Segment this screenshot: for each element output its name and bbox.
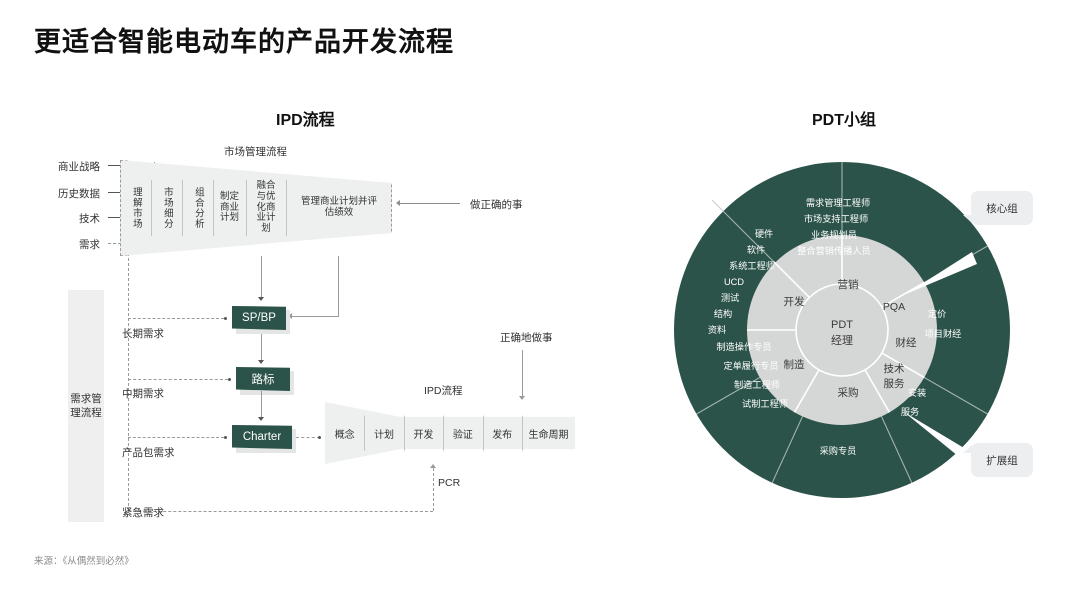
funnel-stage[interactable]: 制定商业计划	[213, 160, 246, 256]
annotation-do-things-right: 正确地做事	[500, 330, 553, 345]
outer-label-development-7[interactable]: 资料	[708, 324, 726, 335]
annotation-line-top	[400, 203, 460, 204]
node-charter-label: Charter	[243, 431, 281, 443]
roadmap-to-charter-arrow	[258, 417, 264, 421]
pcr-label: PCR	[438, 477, 460, 489]
funnel-stage[interactable]: 组合分析	[182, 160, 213, 256]
market-process-label: 市场管理流程	[224, 144, 287, 159]
node-charter[interactable]: Charter	[232, 425, 292, 449]
demand-management-label: 需求管理流程	[68, 392, 104, 420]
section-heading-pdt: PDT小组	[812, 106, 876, 130]
funnel-to-spbp-arrow	[258, 297, 264, 301]
ipd-stage-list: 概念 计划 开发 验证 发布 生命周期	[325, 402, 575, 464]
node-spbp-label: SP/BP	[242, 312, 276, 324]
inner-label-manufacturing[interactable]: 制造	[784, 358, 805, 371]
product-pkg-dot	[224, 436, 227, 439]
page-title: 更适合智能电动车的产品开发流程	[34, 20, 454, 59]
pcr-arrow	[430, 464, 436, 468]
demand-riser-dashed	[128, 243, 129, 511]
section-heading-ipd: IPD流程	[276, 106, 335, 130]
roadmap-to-charter-line	[261, 391, 262, 419]
mid-term-dot	[228, 378, 231, 381]
callout-core-tail	[963, 215, 972, 223]
spbp-to-roadmap-arrow	[258, 360, 264, 364]
mid-term-dashed	[128, 379, 228, 380]
annotation-line-bottom	[522, 350, 523, 398]
outer-label-manufacturing-2[interactable]: 定单履行专员	[723, 360, 778, 371]
funnel-stage-label: 管理商业计划并评估绩效	[300, 197, 378, 218]
funnel-stage-label: 融合与优化商业计划	[254, 181, 279, 234]
spbp-to-roadmap-line	[261, 334, 262, 362]
node-spbp[interactable]: SP/BP	[232, 306, 286, 330]
outer-label-finance-2[interactable]: 项目财经	[925, 328, 962, 339]
outer-label-marketing-1[interactable]: 需求管理工程师	[806, 197, 870, 208]
outer-label-manufacturing-3[interactable]: 制造工程师	[734, 379, 780, 390]
ipd-stage-label: 计划	[374, 426, 394, 441]
callout-extended-tail	[963, 445, 972, 453]
ipd-stage-label: 开发	[413, 426, 433, 441]
outer-label-manufacturing-4[interactable]: 试制工程师	[742, 398, 788, 409]
ipd-stage[interactable]: 概念	[325, 402, 364, 464]
inner-label-procurement[interactable]: 采购	[838, 386, 859, 399]
demand-row-label-pkg: 产品包需求	[122, 445, 175, 460]
input-label-strategy: 商业战略	[30, 159, 100, 174]
ipd-stage[interactable]: 验证	[443, 402, 482, 464]
demand-management-column: 需求管理流程	[68, 290, 104, 522]
ipd-stage[interactable]: 开发	[404, 402, 443, 464]
ipd-stage-label: 发布	[492, 426, 512, 441]
outer-label-development-6[interactable]: 结构	[714, 308, 732, 319]
callout-core-label: 核心组	[986, 201, 1018, 216]
inner-label-techservice-line1[interactable]: 技术	[884, 362, 905, 375]
annotation-arrow-top	[396, 200, 400, 206]
funnel-stage[interactable]: 理解市场	[120, 160, 151, 256]
outer-label-marketing-3[interactable]: 业务规划员	[811, 229, 857, 240]
outer-label-procurement-1[interactable]: 采购专员	[820, 445, 857, 456]
outer-label-development-4[interactable]: UCD	[724, 277, 744, 287]
outer-label-development-5[interactable]: 测试	[721, 292, 739, 303]
long-term-dashed	[128, 318, 224, 319]
ipd-stage[interactable]: 计划	[364, 402, 403, 464]
outer-label-marketing-4[interactable]: 整合营销传播人员	[797, 245, 871, 256]
ipd-funnel-label: IPD流程	[424, 383, 463, 398]
inner-label-marketing[interactable]: 营销	[838, 278, 859, 291]
outer-label-development-3[interactable]: 系统工程师	[729, 260, 775, 271]
callout-extended-group[interactable]: 扩展组	[971, 443, 1033, 477]
callout-core-group[interactable]: 核心组	[971, 191, 1033, 225]
funnel-stage-list: 理解市场 市场细分 组合分析 制定商业计划 融合与优化商业计划 管理商业计划并评…	[120, 160, 392, 256]
outer-label-techservice-2[interactable]: 服务	[901, 406, 919, 417]
funnel-stage[interactable]: 融合与优化商业计划	[246, 160, 286, 256]
outer-label-manufacturing-1[interactable]: 制造操作专员	[716, 341, 771, 352]
input-label-history: 历史数据	[30, 186, 100, 201]
pdt-wheel: PDT 经理 营销 PQA 财经 技术 服务 采购 制造 开发 需求管理工程师 …	[672, 160, 1012, 500]
charter-to-ipd-dot	[318, 436, 321, 439]
outer-label-techservice-1[interactable]: 安装	[908, 387, 926, 398]
funnel-stage-label: 制定商业计划	[220, 192, 240, 224]
feedback-vline	[338, 256, 339, 316]
outer-label-development-2[interactable]: 软件	[747, 244, 765, 255]
pcr-dashed-line	[433, 468, 434, 511]
source-note: 来源：《从偶然到必然》	[34, 553, 134, 567]
node-roadmap-label: 路标	[252, 371, 275, 387]
node-roadmap[interactable]: 路标	[236, 367, 290, 391]
demand-row-label-urgent: 紧急需求	[122, 505, 164, 520]
annotation-arrow-bottom	[519, 396, 525, 400]
funnel-stage[interactable]: 市场细分	[151, 160, 182, 256]
ipd-stage[interactable]: 生命周期	[522, 402, 575, 464]
callout-extended-label: 扩展组	[986, 453, 1018, 468]
funnel-stage-label: 组合分析	[192, 187, 203, 229]
ipd-stage-label: 生命周期	[528, 426, 568, 441]
outer-label-finance-1[interactable]: 定价	[928, 308, 946, 319]
ipd-stage[interactable]: 发布	[483, 402, 522, 464]
annotation-do-right-things: 做正确的事	[470, 197, 523, 212]
inner-label-development[interactable]: 开发	[784, 295, 805, 308]
funnel-stage[interactable]: 管理商业计划并评估绩效	[286, 160, 392, 256]
ipd-stage-label: 验证	[453, 426, 473, 441]
funnel-stage-label: 理解市场	[130, 187, 141, 229]
demand-row-label-mid: 中期需求	[122, 386, 164, 401]
funnel-stage-label: 市场细分	[161, 187, 172, 229]
market-management-funnel: 理解市场 市场细分 组合分析 制定商业计划 融合与优化商业计划 管理商业计划并评…	[120, 160, 392, 256]
long-term-dot	[224, 317, 227, 320]
slide-canvas: 更适合智能电动车的产品开发流程 IPD流程 PDT小组 市场管理流程 商业战略 …	[0, 0, 1080, 603]
inner-label-finance[interactable]: 财经	[896, 336, 917, 349]
outer-label-development-1[interactable]: 硬件	[755, 228, 773, 239]
demand-row-label-long: 长期需求	[122, 326, 164, 341]
outer-label-marketing-2[interactable]: 市场支持工程师	[804, 213, 868, 224]
inner-label-techservice-line2: 服务	[884, 377, 905, 390]
input-label-demand: 需求	[30, 237, 100, 252]
pdt-wheel-svg: PDT 经理 营销 PQA 财经 技术 服务 采购 制造 开发 需求管理工程师 …	[672, 160, 1012, 500]
product-pkg-dashed	[128, 437, 224, 438]
center-label-line2: 经理	[831, 334, 853, 347]
center-label-line1: PDT	[831, 319, 853, 331]
charter-to-ipd-dashed	[296, 437, 320, 438]
inner-label-pqa[interactable]: PQA	[883, 301, 905, 313]
ipd-stage-label: 概念	[335, 426, 355, 441]
feedback-hline	[292, 316, 339, 317]
funnel-to-spbp-line	[261, 256, 262, 299]
demand-bottom-dashed	[128, 511, 433, 512]
input-label-tech: 技术	[30, 211, 100, 226]
ipd-funnel: 概念 计划 开发 验证 发布 生命周期	[325, 402, 575, 464]
